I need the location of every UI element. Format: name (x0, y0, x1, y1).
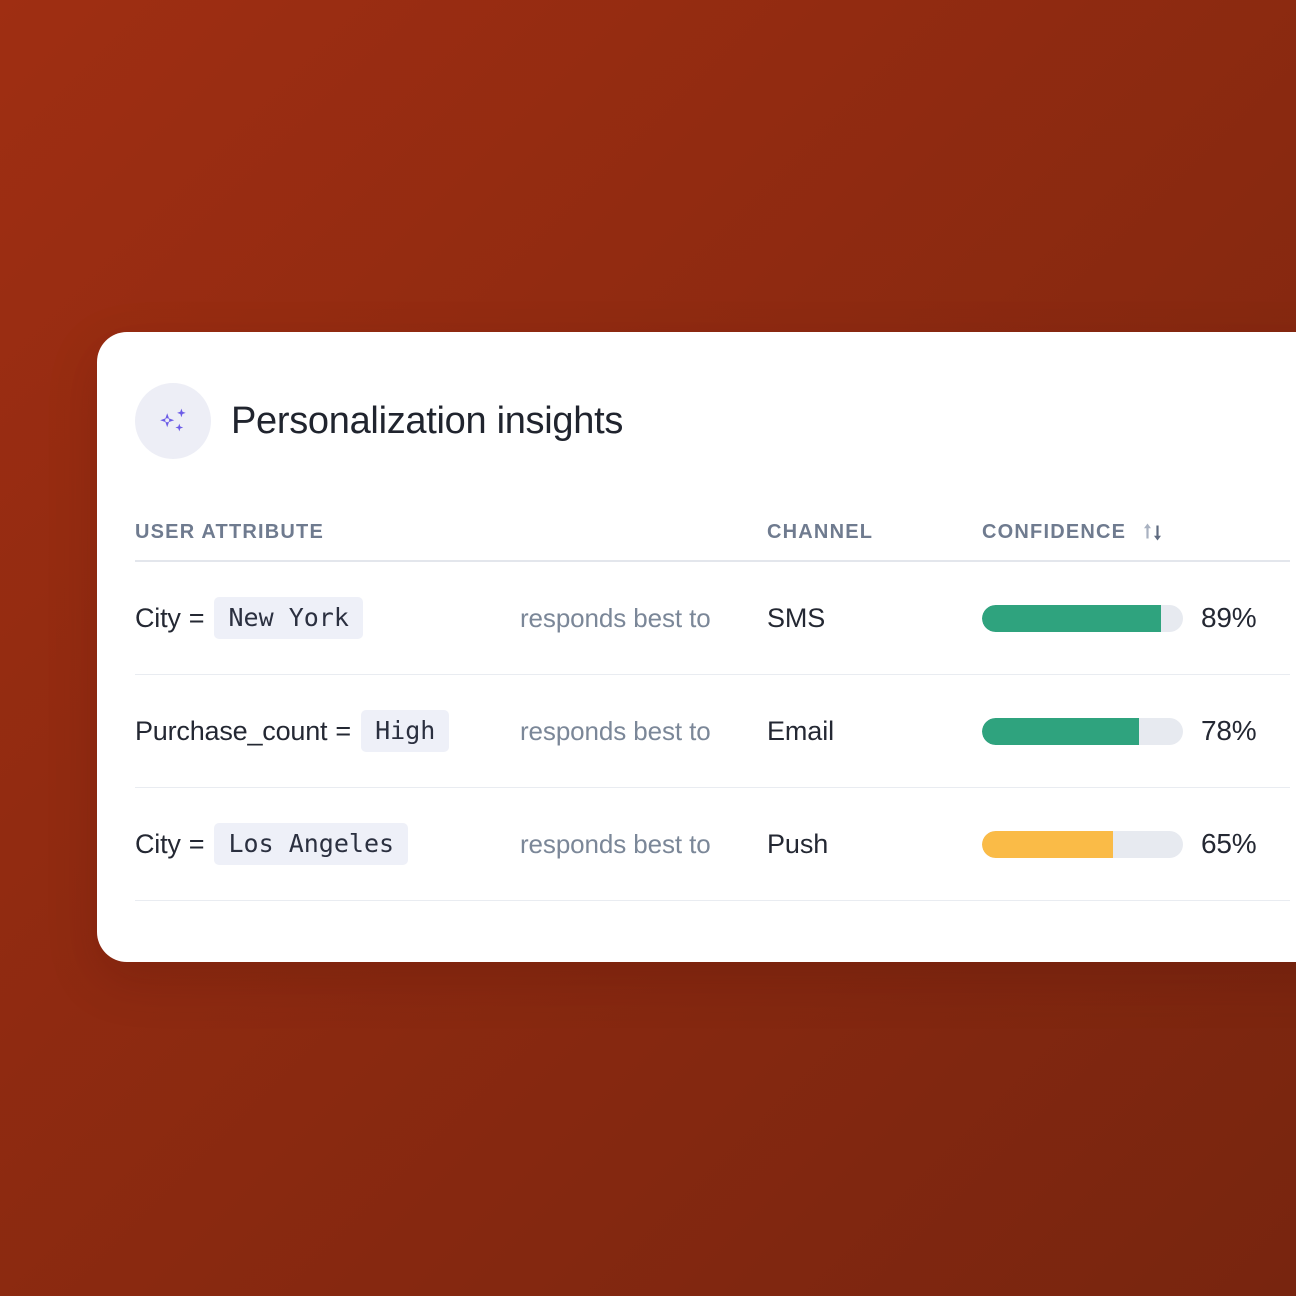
confidence-percent-label: 65% (1201, 828, 1256, 860)
channel-label: Email (767, 716, 834, 746)
column-header-confidence[interactable]: CONFIDENCE (982, 519, 1290, 545)
cell-channel: Email (767, 716, 982, 747)
sort-updown-icon[interactable] (1140, 519, 1166, 545)
confidence-bar-track (982, 605, 1183, 632)
confidence-bar-track (982, 718, 1183, 745)
card-header: Personalization insights (135, 383, 623, 459)
sparkle-icon (153, 401, 193, 441)
connector-phrase-label: responds best to (520, 829, 711, 859)
attribute-key: City (135, 603, 181, 634)
cell-confidence: 89% (982, 602, 1290, 634)
personalization-insights-card: Personalization insights USER ATTRIBUTE … (97, 332, 1296, 962)
cell-user-attribute: City = New York (135, 597, 520, 639)
confidence-bar-fill (982, 605, 1161, 632)
cell-channel: SMS (767, 603, 982, 634)
column-header-user-attribute-label: USER ATTRIBUTE (135, 521, 324, 544)
attribute-value-chip: High (361, 710, 449, 752)
cell-user-attribute: Purchase_count = High (135, 710, 520, 752)
confidence-bar-fill (982, 718, 1139, 745)
column-header-channel-label: CHANNEL (767, 521, 873, 544)
page-background: Personalization insights USER ATTRIBUTE … (0, 0, 1296, 1296)
attribute-equals: = (335, 716, 351, 747)
cell-connector-phrase: responds best to (520, 603, 767, 634)
attribute-equals: = (189, 829, 205, 860)
channel-label: SMS (767, 603, 825, 633)
cell-connector-phrase: responds best to (520, 829, 767, 860)
confidence-bar-fill (982, 831, 1113, 858)
table-header-row: USER ATTRIBUTE CHANNEL CONFIDENCE (135, 504, 1290, 562)
attribute-equals: = (189, 603, 205, 634)
attribute-key: City (135, 829, 181, 860)
attribute-key: Purchase_count (135, 716, 327, 747)
page-title: Personalization insights (231, 402, 623, 440)
cell-connector-phrase: responds best to (520, 716, 767, 747)
column-header-confidence-label: CONFIDENCE (982, 521, 1126, 544)
column-header-channel: CHANNEL (767, 521, 982, 544)
cell-confidence: 78% (982, 715, 1290, 747)
confidence-bar-track (982, 831, 1183, 858)
connector-phrase-label: responds best to (520, 603, 711, 633)
table-row[interactable]: City = New York responds best to SMS 89% (135, 562, 1290, 675)
table-row[interactable]: City = Los Angeles responds best to Push… (135, 788, 1290, 901)
confidence-percent-label: 89% (1201, 602, 1256, 634)
connector-phrase-label: responds best to (520, 716, 711, 746)
attribute-value-chip: Los Angeles (214, 823, 408, 865)
cell-confidence: 65% (982, 828, 1290, 860)
column-header-user-attribute: USER ATTRIBUTE (135, 521, 520, 544)
attribute-value-chip: New York (214, 597, 362, 639)
table-row[interactable]: Purchase_count = High responds best to E… (135, 675, 1290, 788)
cell-channel: Push (767, 829, 982, 860)
channel-label: Push (767, 829, 828, 859)
insights-table: USER ATTRIBUTE CHANNEL CONFIDENCE (135, 504, 1290, 901)
cell-user-attribute: City = Los Angeles (135, 823, 520, 865)
sparkle-icon-badge (135, 383, 211, 459)
confidence-percent-label: 78% (1201, 715, 1256, 747)
